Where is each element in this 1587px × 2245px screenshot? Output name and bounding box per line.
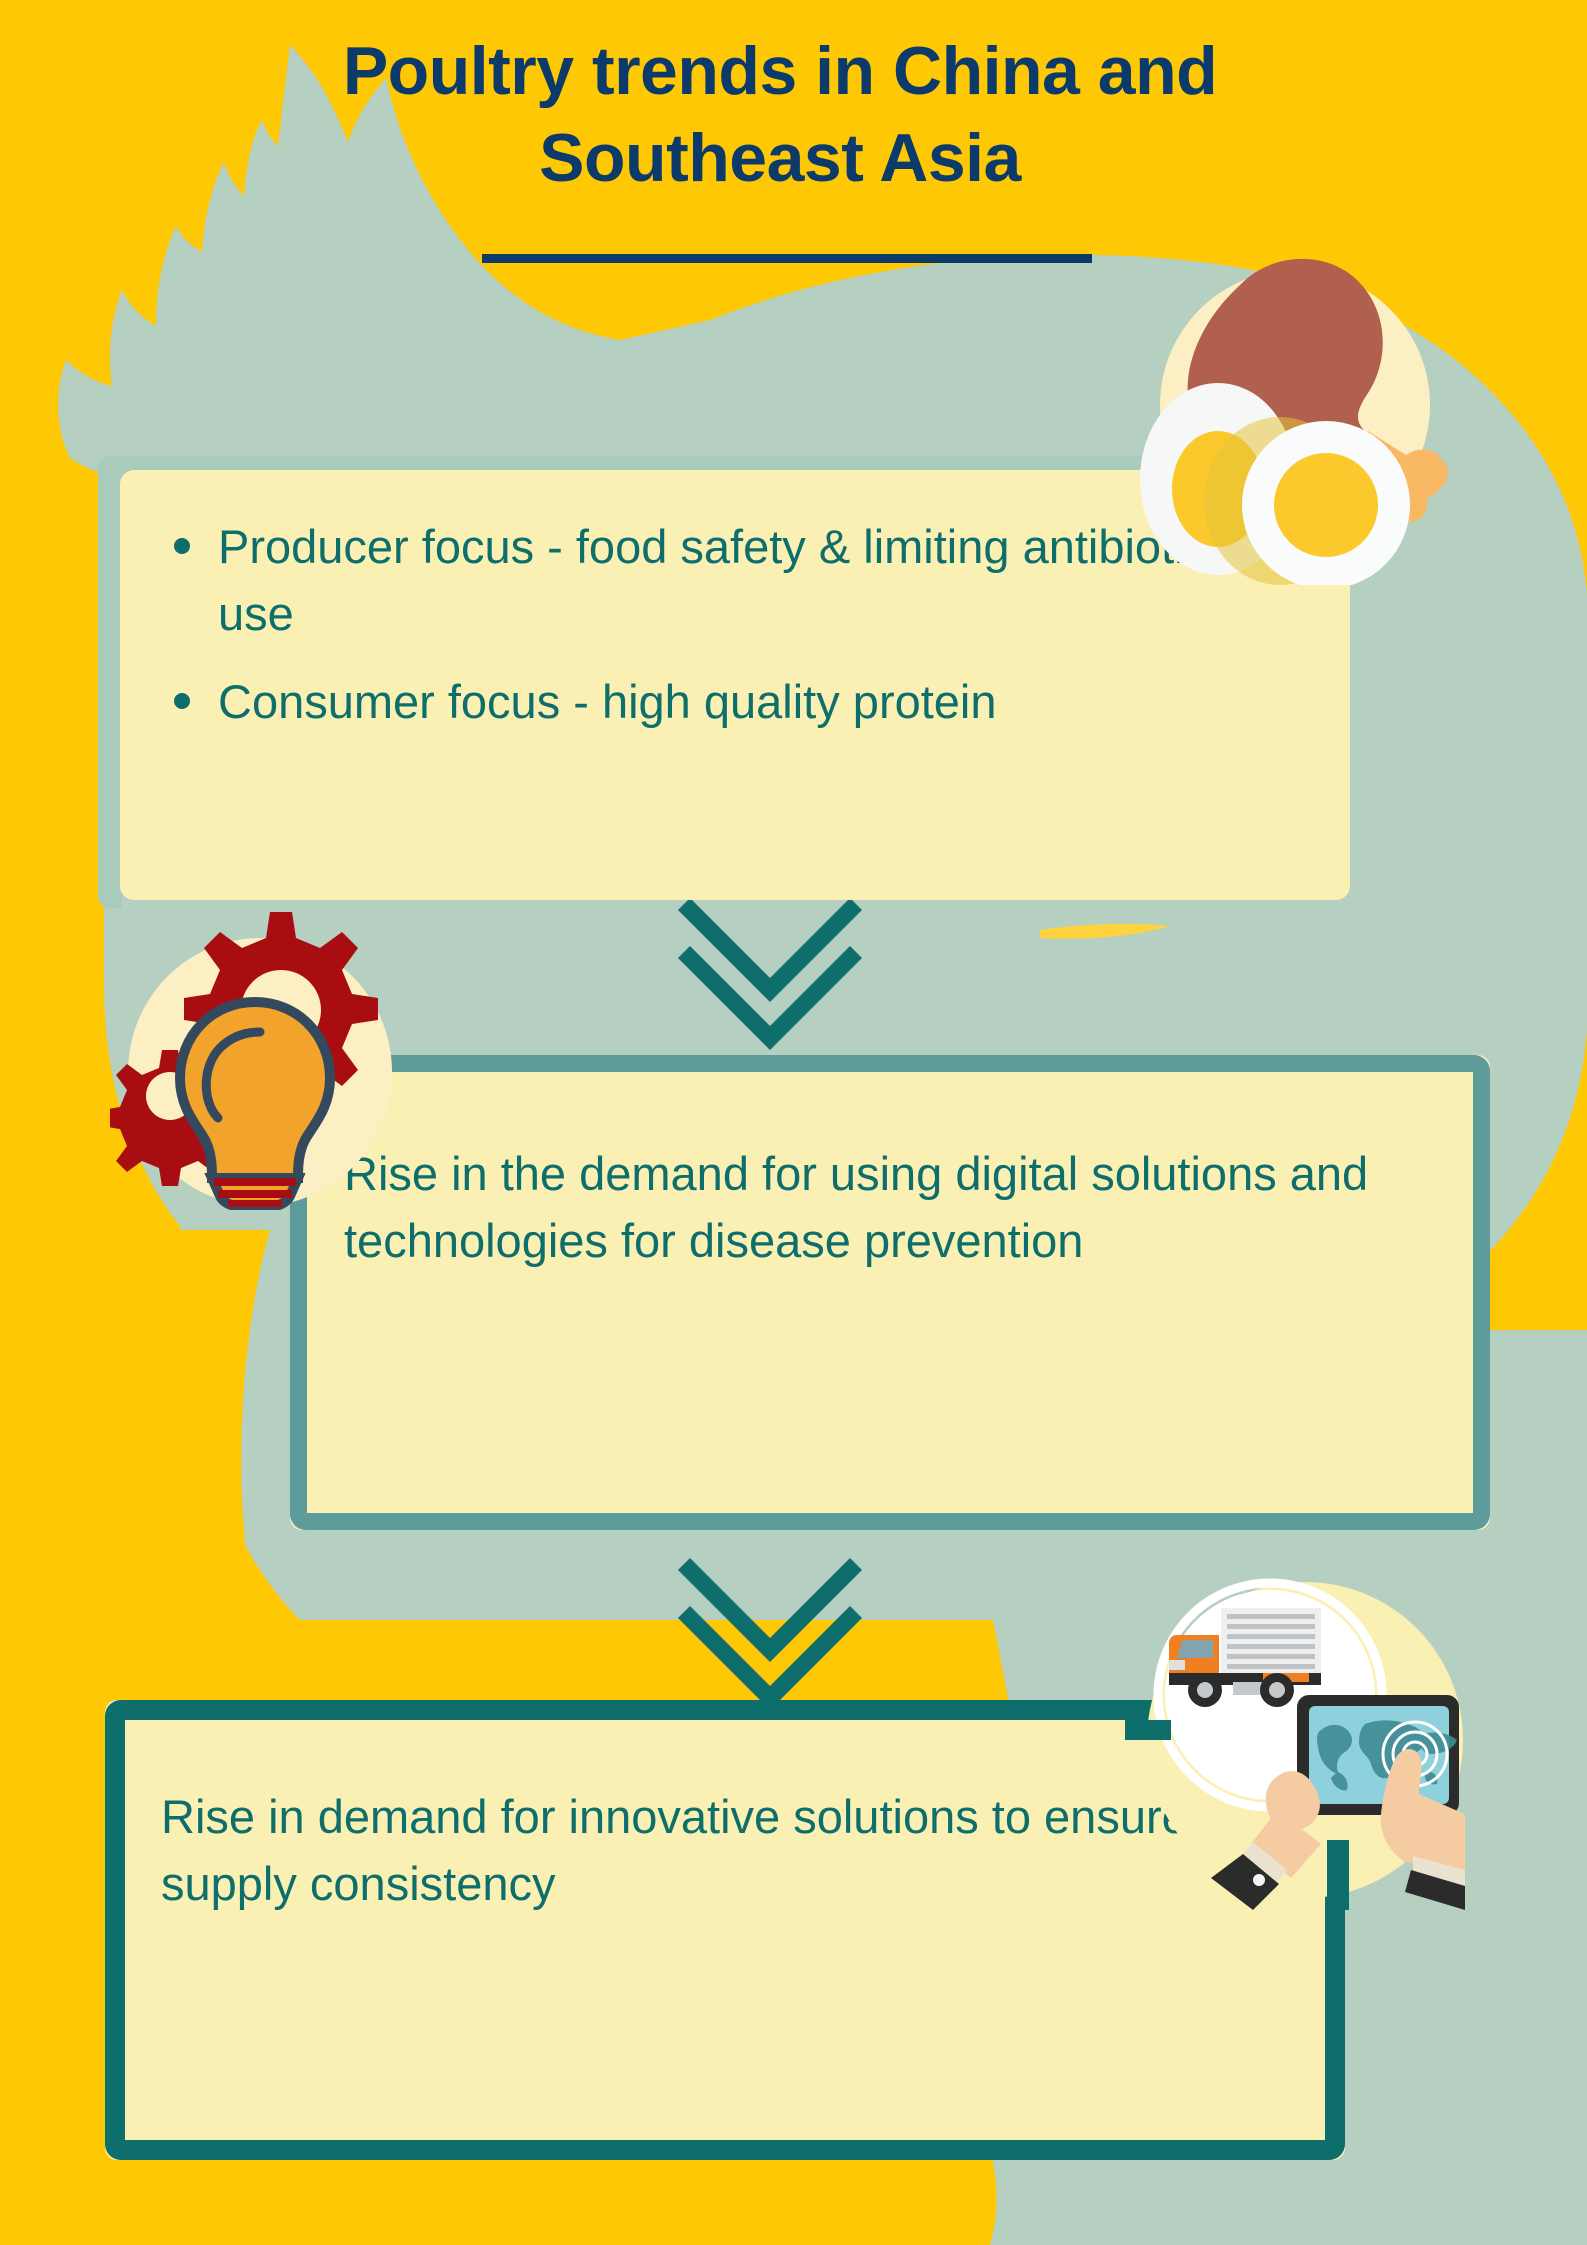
bullet-dot-icon — [174, 538, 190, 554]
title-line-2: Southeast Asia — [240, 115, 1320, 202]
bullet-text: Consumer focus - high quality protein — [218, 675, 997, 728]
egg-yolk-right — [1274, 453, 1378, 557]
tablet-icon — [1297, 1695, 1459, 1815]
truck-tablet-icon — [1125, 1540, 1465, 1910]
lightbulb-gears-icon — [110, 890, 420, 1210]
page-title: Poultry trends in China and Southeast As… — [240, 28, 1320, 202]
infographic-canvas: Poultry trends in China and Southeast As… — [0, 0, 1587, 2245]
egg-drumstick-icon — [1130, 255, 1460, 585]
bullet-dot-icon — [174, 693, 190, 709]
bullet-list: Producer focus - food safety & limiting … — [166, 514, 1290, 736]
double-chevron-down-icon-2 — [670, 1550, 870, 1710]
card-frame — [290, 1055, 1490, 1530]
title-line-1: Poultry trends in China and — [240, 28, 1320, 115]
card-left-edge — [98, 456, 122, 908]
decor-fleck-bottom — [1327, 1840, 1349, 1910]
decor-fleck-left — [1125, 1720, 1171, 1740]
double-chevron-down-icon-1 — [670, 890, 870, 1050]
list-item: Consumer focus - high quality protein — [218, 669, 1290, 736]
bullet-text: Producer focus - food safety & limiting … — [218, 520, 1232, 640]
card-digital-solutions: Rise in the demand for using digital sol… — [290, 1055, 1490, 1530]
title-underline — [482, 254, 1092, 263]
